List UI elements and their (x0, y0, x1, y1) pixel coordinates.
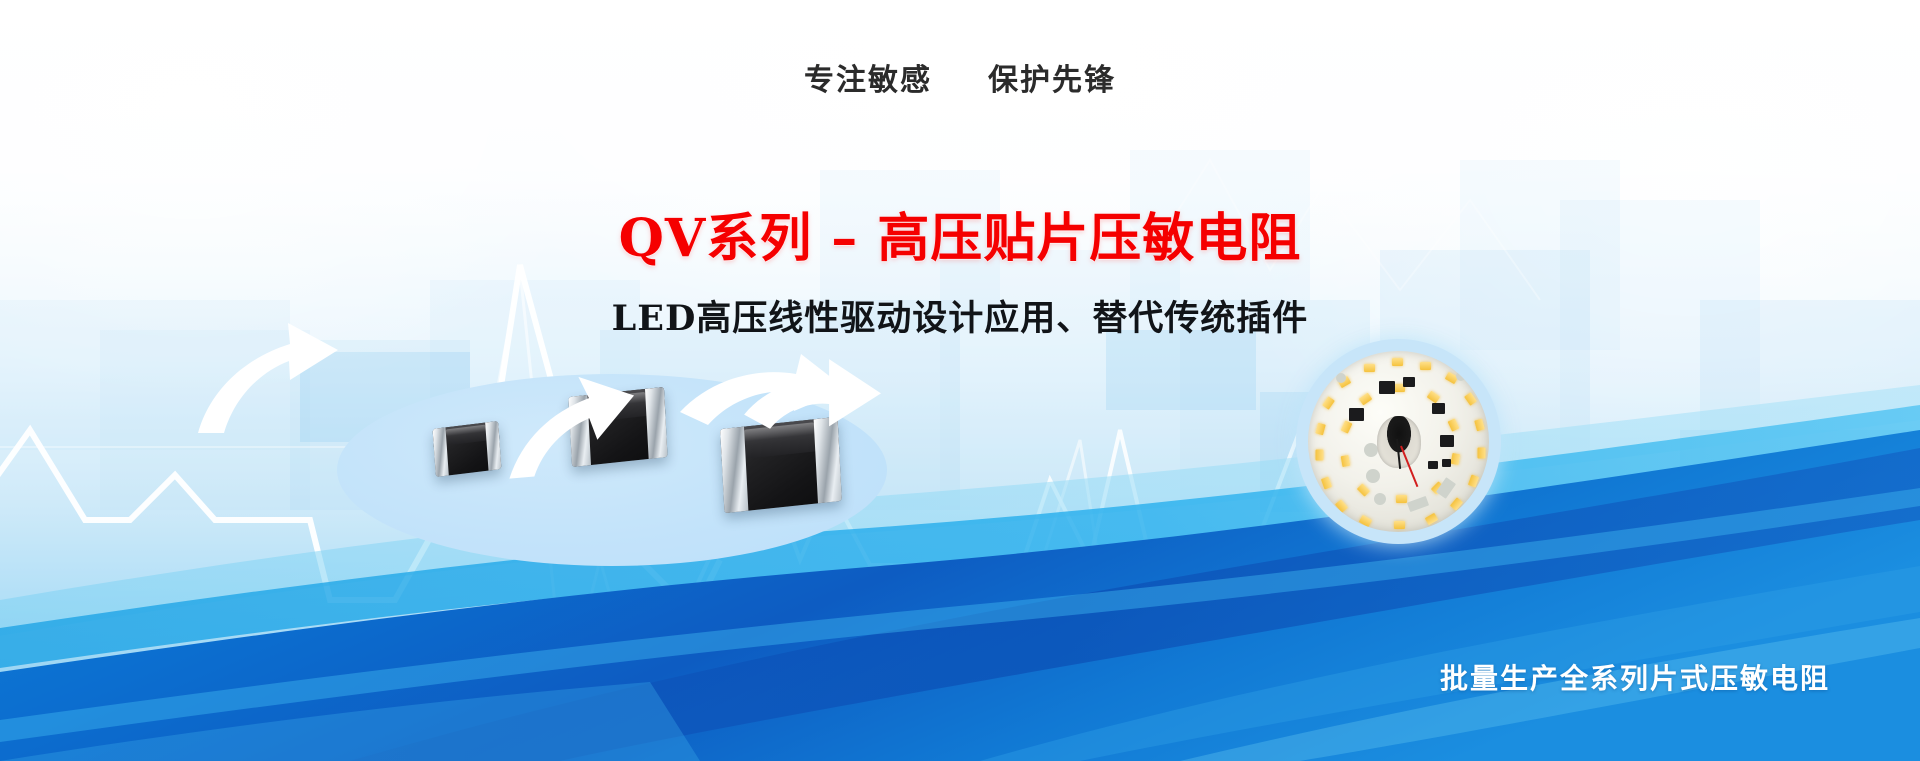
promo-banner: 专注敏感保护先锋 QV系列 – 高压贴片压敏电阻 LED高压线性驱动设计应用、替… (0, 0, 1920, 761)
footnote-caption: 批量生产全系列片式压敏电阻 (1440, 657, 1830, 697)
tagline-right: 保护先锋 (988, 63, 1116, 98)
page-subtitle: LED高压线性驱动设计应用、替代传统插件 (0, 290, 1920, 341)
page-title: QV系列 – 高压贴片压敏电阻 (0, 196, 1920, 271)
arrow-layer (0, 0, 1920, 761)
tagline-left: 专注敏感 (804, 63, 932, 98)
brand-tagline: 专注敏感保护先锋 (0, 55, 1920, 99)
led-pcb-module (1296, 339, 1501, 544)
